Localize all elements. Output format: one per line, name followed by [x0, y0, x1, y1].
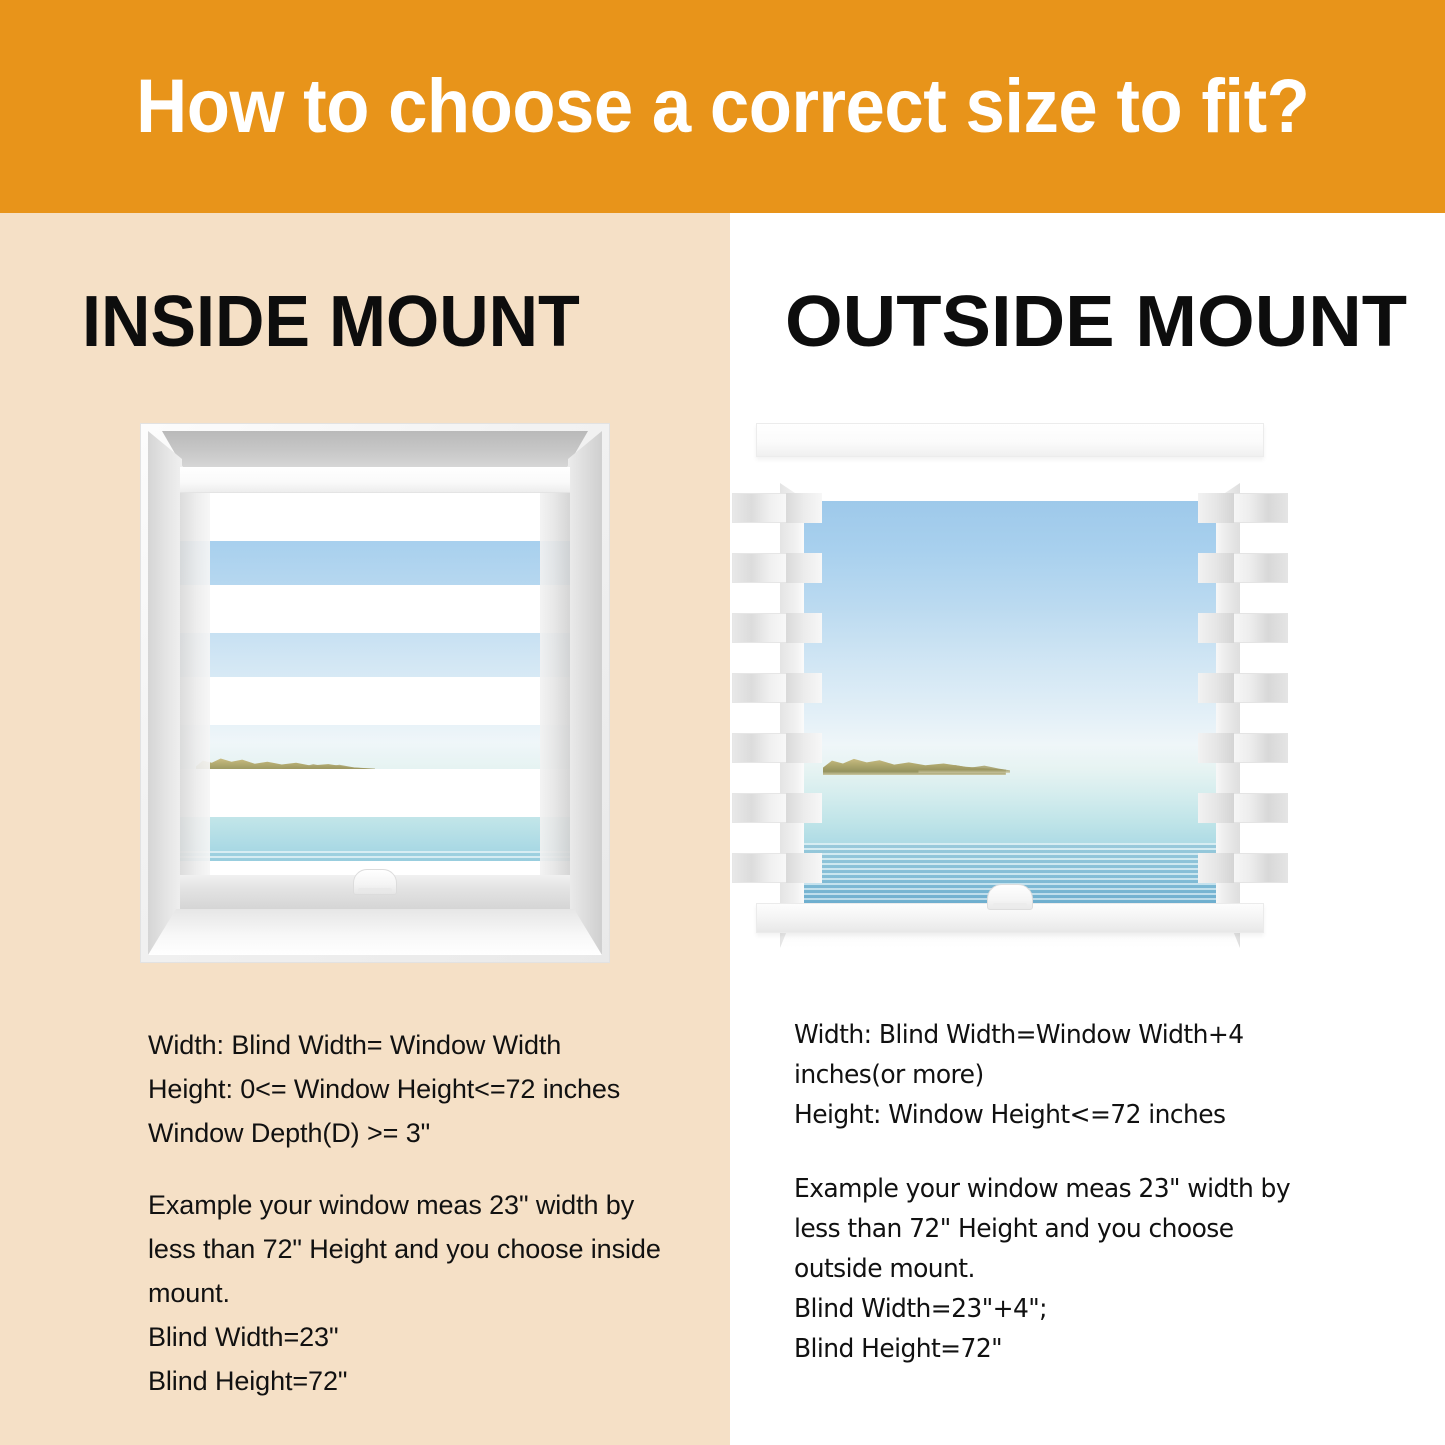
blind-slat-end-right	[1234, 553, 1288, 583]
blind-slat-end-right	[1234, 673, 1288, 703]
blind-slat-group	[750, 467, 1270, 893]
blind-slat-end-right	[1234, 853, 1288, 883]
outside-example-line-1: Example your window meas 23" width by	[794, 1169, 1341, 1209]
outside-spec-line-2: inches(or more)	[794, 1055, 1341, 1095]
blind-slat-end-right	[1234, 613, 1288, 643]
blind-slat-end-left	[732, 733, 786, 763]
blind-slat	[786, 853, 1234, 883]
inside-example-line-5: Blind Height=72"	[148, 1359, 708, 1403]
blind-slat-end-left	[732, 793, 786, 823]
blind-side-tape-right	[540, 493, 570, 909]
inside-example-line-4: Blind Width=23"	[148, 1315, 708, 1359]
blind-slat	[786, 673, 1234, 703]
blind-slat	[786, 553, 1234, 583]
blind-slat-end-right	[1234, 493, 1288, 523]
outside-spec-line-1: Width: Blind Width=Window Width+4	[794, 1015, 1341, 1055]
zebra-blind	[180, 493, 570, 909]
window-reveal-top	[162, 431, 588, 469]
inside-example-line-1: Example your window meas 23" width by	[148, 1183, 708, 1227]
outside-example-line-3: outside mount.	[794, 1249, 1341, 1289]
inside-example-line-3: mount.	[148, 1271, 708, 1315]
outside-example-line-4: Blind Width=23"+4";	[794, 1289, 1341, 1329]
outside-mount-window-illustration	[750, 423, 1270, 968]
inside-example-line-2: less than 72" Height and you choose insi…	[148, 1227, 708, 1271]
inside-spec-line-2: Height: 0<= Window Height<=72 inches	[148, 1067, 708, 1111]
blind-slat-end-left	[732, 853, 786, 883]
blind-slat-end-left	[732, 673, 786, 703]
outside-mount-heading: OUTSIDE MOUNT	[785, 286, 1407, 358]
blind-slat-end-left	[732, 493, 786, 523]
outside-example-line-2: less than 72" Height and you choose	[794, 1209, 1341, 1249]
blind-slat	[786, 493, 1234, 523]
blind-slat-end-left	[732, 613, 786, 643]
blind-headrail	[756, 423, 1264, 457]
outside-spec-line-3: Height: Window Height<=72 inches	[794, 1095, 1341, 1135]
blind-bottom-rail	[756, 903, 1264, 933]
blind-slat-end-right	[1234, 793, 1288, 823]
blind-pull-handle	[987, 884, 1033, 910]
zebra-blind-outside	[750, 423, 1270, 893]
inside-spec-line-3: Window Depth(D) >= 3"	[148, 1111, 708, 1155]
page-title: How to choose a correct size to fit?	[136, 69, 1309, 145]
blind-pull-handle	[353, 869, 397, 895]
blind-side-tape-left	[180, 493, 210, 909]
window-opening	[180, 467, 570, 909]
blind-slat	[786, 793, 1234, 823]
inside-mount-panel: INSIDE MOUNT	[0, 213, 730, 1445]
outside-mount-text-block: Width: Blind Width=Window Width+4 inches…	[794, 1015, 1364, 1369]
blind-slat-end-left	[732, 553, 786, 583]
blind-slat	[786, 733, 1234, 763]
paragraph-gap	[794, 1135, 1364, 1169]
inside-mount-window-illustration	[140, 423, 610, 963]
blind-opaque-stripes	[180, 493, 570, 909]
outside-example-line-5: Blind Height=72"	[794, 1329, 1341, 1369]
outside-mount-panel: OUTSIDE MOUNT	[730, 213, 1445, 1445]
comparison-panels: INSIDE MOUNT	[0, 213, 1445, 1445]
page-header-banner: How to choose a correct size to fit?	[0, 0, 1445, 213]
window-reveal-right	[568, 431, 602, 955]
inside-mount-heading: INSIDE MOUNT	[82, 286, 580, 358]
blind-headrail	[180, 467, 570, 493]
inside-mount-text-block: Width: Blind Width= Window Width Height:…	[148, 1023, 708, 1403]
window-reveal-left	[148, 431, 182, 955]
window-sill	[148, 909, 602, 955]
blind-slat	[786, 613, 1234, 643]
paragraph-gap	[148, 1155, 708, 1183]
blind-slat-end-right	[1234, 733, 1288, 763]
inside-spec-line-1: Width: Blind Width= Window Width	[148, 1023, 708, 1067]
